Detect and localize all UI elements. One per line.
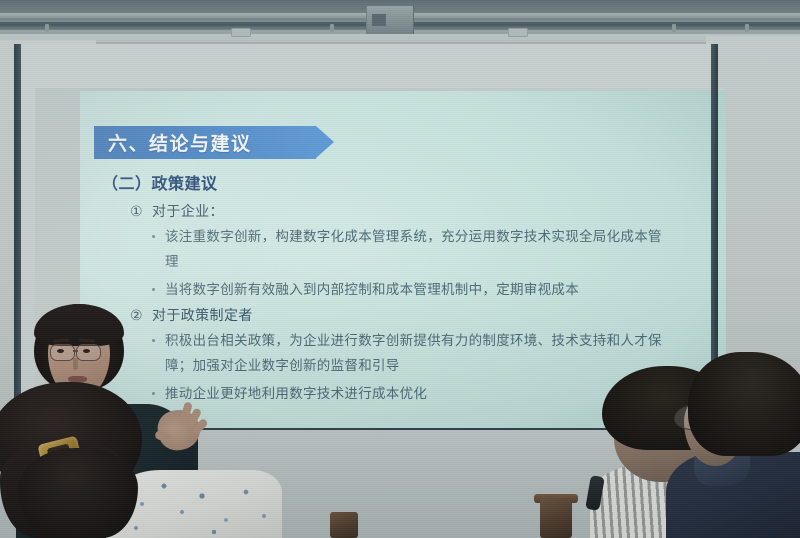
audience-person-right-navy — [688, 352, 800, 538]
mount-screw — [45, 24, 49, 32]
bullet-text: 当将数字创新有效融入到内部控制和成本管理机制中，定期审视成本 — [165, 277, 579, 302]
bullet-dot-icon — [152, 235, 155, 238]
slide-bullets-1: 该注重数字创新，构建数字化成本管理系统，充分运用数字技术实现全局化成本管理 当将… — [152, 224, 665, 305]
banner-arrow-icon — [316, 126, 334, 158]
glasses-bridge — [73, 350, 78, 352]
mount-screw — [672, 24, 676, 32]
mount-screw — [330, 24, 334, 32]
presenter-eye — [83, 349, 90, 353]
bullet-text: 该注重数字创新，构建数字化成本管理系统，充分运用数字技术实现全局化成本管理 — [165, 224, 665, 274]
chair — [540, 498, 572, 538]
audience-hair — [688, 352, 800, 456]
bracket-bolt — [372, 14, 386, 26]
slide-title-text: 六、结论与建议 — [94, 129, 252, 156]
slide-group-1: ① 对于企业： — [130, 201, 224, 221]
group-marker-1: ① — [130, 203, 143, 220]
slide-bullets-2: 积极出台相关政策，为企业进行数字创新提供有力的制度环境、技术支持和人才保障；加强… — [152, 328, 665, 409]
slide-section-heading: （二）政策建议 — [102, 170, 218, 194]
group-label-1: 对于企业： — [152, 201, 224, 221]
slide-title-banner: 六、结论与建议 — [94, 126, 316, 159]
bullet-dot-icon — [152, 288, 155, 291]
presenter-eye — [57, 349, 64, 353]
screen-clip — [231, 28, 251, 37]
audience-person-center — [18, 448, 278, 538]
screen-clip — [508, 28, 528, 37]
mount-screw — [745, 24, 749, 32]
bullet-item: 推动企业更好地利用数字技术进行成本优化 — [152, 381, 665, 406]
presenter-nose — [73, 358, 78, 370]
bullet-item: 积极出台相关政策，为企业进行数字创新提供有力的制度环境、技术支持和人才保障；加强… — [152, 328, 665, 378]
audience-hair — [18, 448, 138, 538]
bullet-item: 当将数字创新有效融入到内部控制和成本管理机制中，定期审视成本 — [152, 277, 665, 302]
bullet-text: 推动企业更好地利用数字技术进行成本优化 — [165, 381, 427, 406]
bullet-item: 该注重数字创新，构建数字化成本管理系统，充分运用数字技术实现全局化成本管理 — [152, 224, 665, 274]
bullet-text: 积极出台相关政策，为企业进行数字创新提供有力的制度环境、技术支持和人才保障；加强… — [165, 328, 665, 378]
chair — [330, 512, 358, 538]
lecture-photo-scene: 六、结论与建议 （二）政策建议 ① 对于企业： 该注重数字创新，构建数字化成本管… — [0, 0, 800, 538]
